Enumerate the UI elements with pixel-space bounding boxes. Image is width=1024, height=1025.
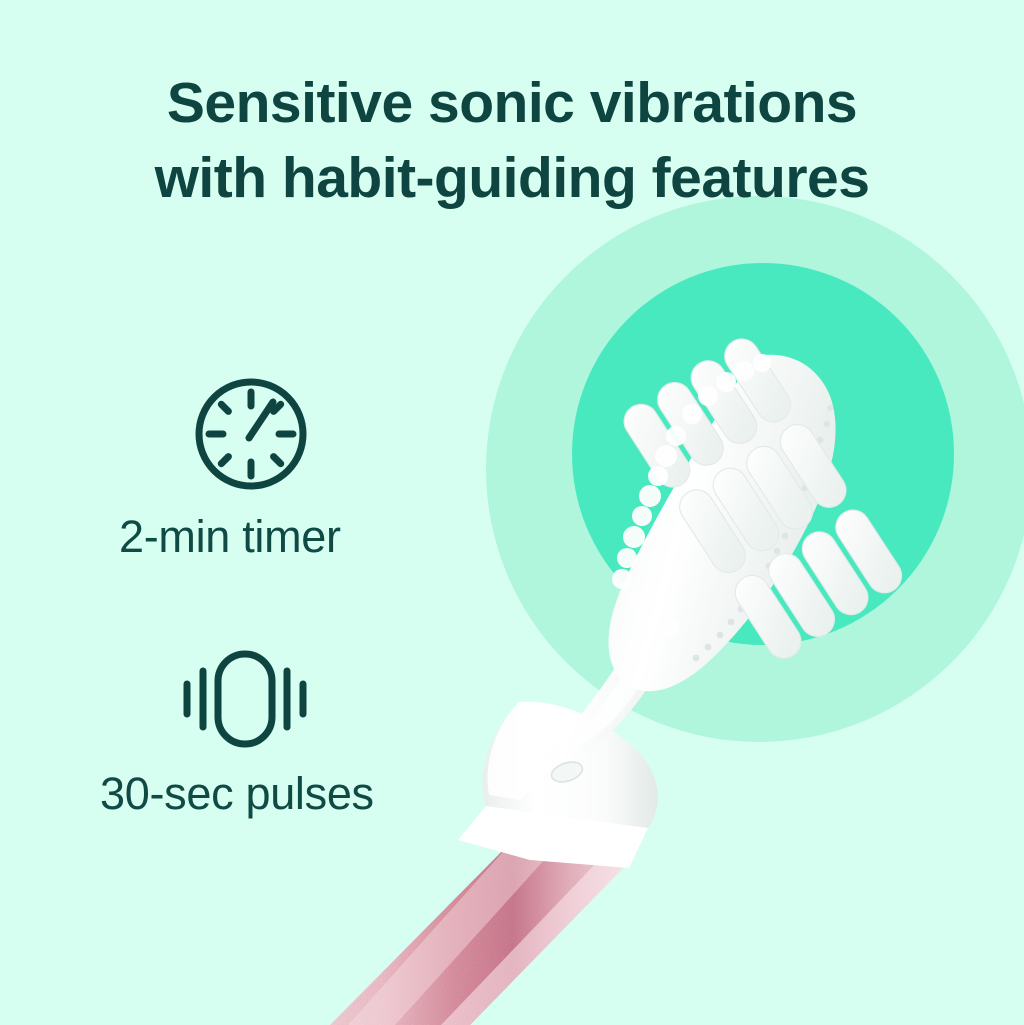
promo-image: Sensitive sonic vibrations with habit-gu… xyxy=(0,0,1024,1025)
pulse-icon xyxy=(181,645,315,756)
feature-list: 2-min timer 30-sec pulses xyxy=(0,0,1024,1025)
clock-icon xyxy=(193,376,309,497)
feature-label-timer: 2-min timer xyxy=(119,511,341,563)
feature-label-pulses: 30-sec pulses xyxy=(100,768,374,820)
